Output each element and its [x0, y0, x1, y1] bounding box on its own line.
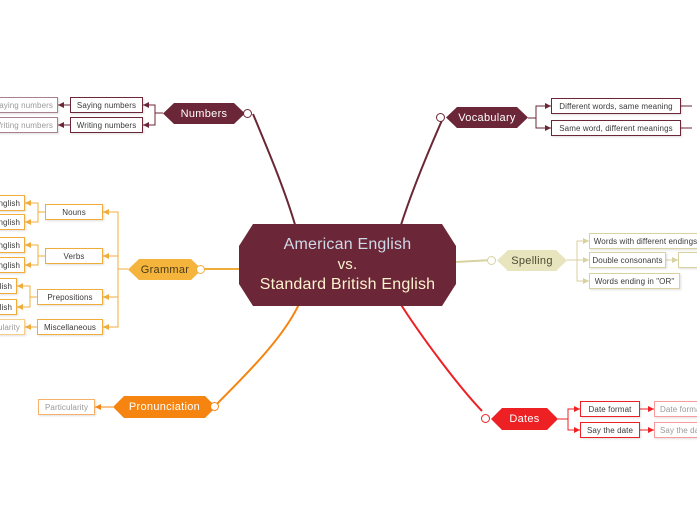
- link-vocabulary-children: [528, 106, 551, 128]
- collapse-handle-vocabulary[interactable]: [436, 113, 445, 122]
- collapse-handle-grammar[interactable]: [196, 265, 205, 274]
- node-say-the-date-detail-label: Say the date: [660, 426, 697, 435]
- branch-numbers[interactable]: Numbers: [163, 103, 245, 124]
- node-date-format[interactable]: Date format: [580, 401, 640, 417]
- node-nouns-british-english[interactable]: British English: [0, 214, 25, 230]
- node-pronunciation-particularity-label: Particularity: [45, 403, 88, 412]
- link-central-dates: [398, 300, 482, 411]
- central-node[interactable]: American English vs. Standard British En…: [239, 224, 456, 306]
- node-double-consonants[interactable]: Double consonants: [589, 252, 666, 268]
- mindmap-canvas: American English vs. Standard British En…: [0, 0, 697, 520]
- central-line-1: American English: [284, 235, 412, 255]
- node-writing-numbers[interactable]: Writing numbers: [70, 117, 143, 133]
- link-prepositions-gc: [17, 286, 37, 307]
- node-miscellaneous-particularity-label: Particularity: [0, 323, 20, 332]
- node-writing-numbers-detail-label: Writing numbers: [0, 121, 53, 130]
- node-verbs[interactable]: Verbs: [45, 248, 103, 264]
- node-prepositions-american-english-label: American English: [0, 282, 12, 291]
- link-central-pronunciation: [216, 302, 300, 405]
- node-words-with-different-endings-label: Words with different endings: [594, 237, 697, 246]
- arrowheads-pronunciation: [95, 404, 101, 410]
- node-say-the-date-detail[interactable]: Say the date: [654, 422, 697, 438]
- node-prepositions-label: Prepositions: [47, 293, 92, 302]
- link-grammar-children: [103, 212, 128, 327]
- branch-pronunciation[interactable]: Pronunciation: [113, 396, 216, 418]
- node-double-consonants-detail[interactable]: [678, 252, 697, 268]
- node-writing-numbers-label: Writing numbers: [77, 121, 137, 130]
- node-nouns-american-english-label: American English: [0, 199, 20, 208]
- node-miscellaneous[interactable]: Miscellaneous: [37, 319, 103, 335]
- node-double-consonants-label: Double consonants: [592, 256, 662, 265]
- central-line-2: vs.: [338, 255, 358, 275]
- node-words-ending-in-or[interactable]: Words ending in "OR": [589, 273, 680, 289]
- node-nouns-american-english[interactable]: American English: [0, 195, 25, 211]
- node-saying-numbers-detail-label: Saying numbers: [0, 101, 53, 110]
- node-verbs-british-english-label: British English: [0, 261, 20, 270]
- branch-numbers-label: Numbers: [181, 108, 228, 120]
- central-line-3: Standard British English: [260, 275, 436, 295]
- node-same-word-different-meanings[interactable]: Same word, different meanings: [551, 120, 681, 136]
- branch-spelling[interactable]: Spelling: [497, 250, 567, 271]
- node-prepositions-british-english[interactable]: British English: [0, 299, 17, 315]
- node-say-the-date-label: Say the date: [587, 426, 633, 435]
- branch-dates-label: Dates: [509, 413, 539, 425]
- node-verbs-american-english-label: American English: [0, 241, 20, 250]
- link-central-numbers: [253, 114, 296, 228]
- branch-pronunciation-label: Pronunciation: [129, 401, 200, 413]
- node-words-with-different-endings[interactable]: Words with different endings: [589, 233, 697, 249]
- node-writing-numbers-detail[interactable]: Writing numbers: [0, 117, 58, 133]
- node-miscellaneous-label: Miscellaneous: [44, 323, 96, 332]
- node-miscellaneous-particularity[interactable]: Particularity: [0, 319, 25, 335]
- node-nouns-british-english-label: British English: [0, 218, 20, 227]
- collapse-handle-spelling[interactable]: [487, 256, 496, 265]
- collapse-handle-pronunciation[interactable]: [210, 402, 219, 411]
- node-say-the-date[interactable]: Say the date: [580, 422, 640, 438]
- node-verbs-british-english[interactable]: British English: [0, 257, 25, 273]
- collapse-handle-numbers[interactable]: [243, 109, 252, 118]
- link-central-vocabulary: [400, 118, 443, 228]
- node-prepositions-british-english-label: British English: [0, 303, 12, 312]
- link-nouns-gc: [25, 203, 45, 222]
- branch-grammar[interactable]: Grammar: [128, 259, 202, 280]
- node-words-ending-in-or-label: Words ending in "OR": [595, 277, 675, 286]
- link-numbers-children: [143, 105, 163, 125]
- link-dates-children: [558, 409, 580, 430]
- node-nouns-label: Nouns: [62, 208, 86, 217]
- link-spelling-children: [567, 241, 589, 281]
- node-prepositions-american-english[interactable]: American English: [0, 278, 17, 294]
- branch-spelling-label: Spelling: [511, 255, 553, 267]
- node-different-words-same-meaning[interactable]: Different words, same meaning: [551, 98, 681, 114]
- node-nouns[interactable]: Nouns: [45, 204, 103, 220]
- node-different-words-same-meaning-label: Different words, same meaning: [559, 102, 672, 111]
- collapse-handle-dates[interactable]: [481, 414, 490, 423]
- node-prepositions[interactable]: Prepositions: [37, 289, 103, 305]
- branch-vocabulary-label: Vocabulary: [458, 112, 515, 124]
- node-same-word-different-meanings-label: Same word, different meanings: [559, 124, 672, 133]
- branch-grammar-label: Grammar: [141, 264, 190, 276]
- node-verbs-american-english[interactable]: American English: [0, 237, 25, 253]
- node-verbs-label: Verbs: [64, 252, 85, 261]
- node-date-format-detail-label: Date format: [660, 405, 697, 414]
- branch-vocabulary[interactable]: Vocabulary: [446, 107, 528, 128]
- node-date-format-detail[interactable]: Date format: [654, 401, 697, 417]
- node-pronunciation-particularity[interactable]: Particularity: [38, 399, 95, 415]
- node-saying-numbers-detail[interactable]: Saying numbers: [0, 97, 58, 113]
- branch-dates[interactable]: Dates: [491, 408, 558, 430]
- node-date-format-label: Date format: [589, 405, 632, 414]
- node-saying-numbers[interactable]: Saying numbers: [70, 97, 143, 113]
- node-saying-numbers-label: Saying numbers: [77, 101, 136, 110]
- link-verbs-gc: [25, 245, 45, 265]
